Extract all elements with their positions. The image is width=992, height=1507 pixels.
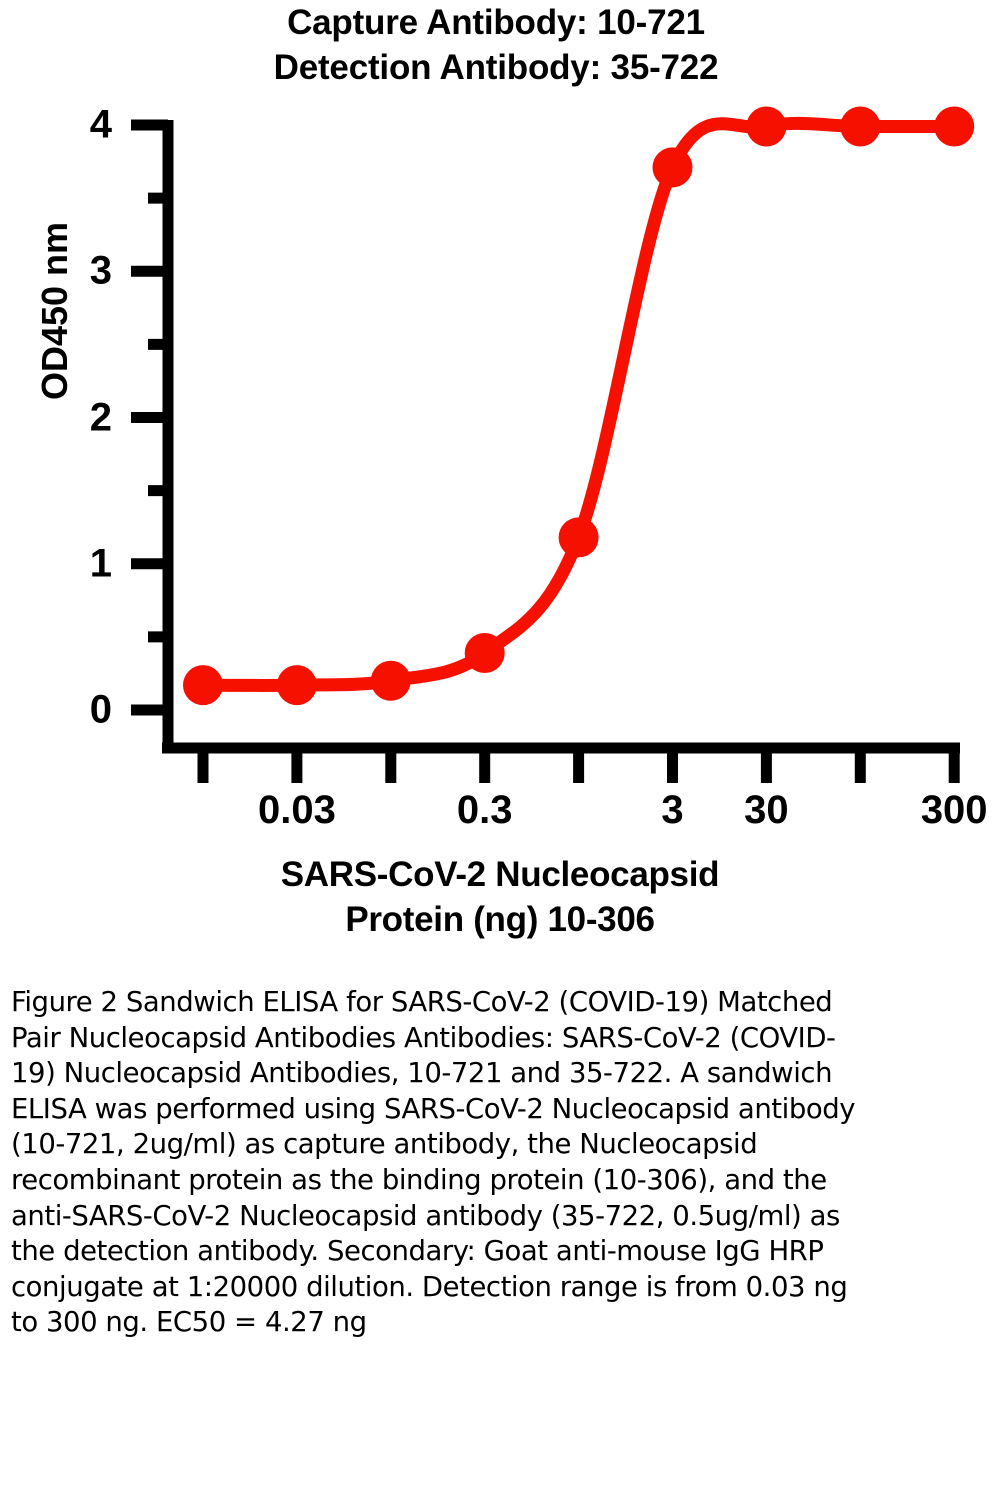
- data-point-marker: [653, 147, 693, 187]
- figure-caption-text: Figure 2 Sandwich ELISA for SARS-CoV-2 (…: [11, 985, 861, 1341]
- data-series-markers: [183, 106, 974, 705]
- y-axis-tick-label: 0: [62, 688, 112, 733]
- y-axis-tick-label: 2: [62, 395, 112, 440]
- x-axis-label: SARS-CoV-2 Nucleocapsid Protein (ng) 10-…: [60, 852, 940, 942]
- data-point-marker: [559, 517, 599, 557]
- data-point-marker: [183, 665, 223, 705]
- x-axis-label-line-1: SARS-CoV-2 Nucleocapsid: [281, 855, 719, 894]
- y-axis-tick-label: 4: [62, 103, 112, 148]
- x-axis-tick-label: 3: [661, 788, 683, 833]
- plot-area: [0, 0, 992, 840]
- data-point-marker: [371, 661, 411, 701]
- x-axis-tick-label: 0.3: [457, 788, 513, 833]
- data-point-marker: [746, 106, 786, 146]
- y-axis-tick-label: 1: [62, 541, 112, 586]
- figure-caption: Figure 2 Sandwich ELISA for SARS-CoV-2 (…: [11, 985, 861, 1341]
- x-axis-tick-label: 30: [744, 788, 789, 833]
- data-point-marker: [840, 106, 880, 146]
- x-axis-label-line-2: Protein (ng) 10-306: [345, 900, 654, 939]
- y-axis-ticks: [131, 125, 168, 710]
- data-point-marker: [277, 665, 317, 705]
- x-axis-tick-label: 300: [921, 788, 988, 833]
- y-axis-tick-label: 3: [62, 249, 112, 294]
- data-point-marker: [465, 633, 505, 673]
- figure-panel: Capture Antibody: 10-721 Detection Antib…: [0, 0, 992, 975]
- data-point-marker: [934, 106, 974, 146]
- data-series-line: [203, 123, 954, 685]
- x-axis-tick-label: 0.03: [258, 788, 336, 833]
